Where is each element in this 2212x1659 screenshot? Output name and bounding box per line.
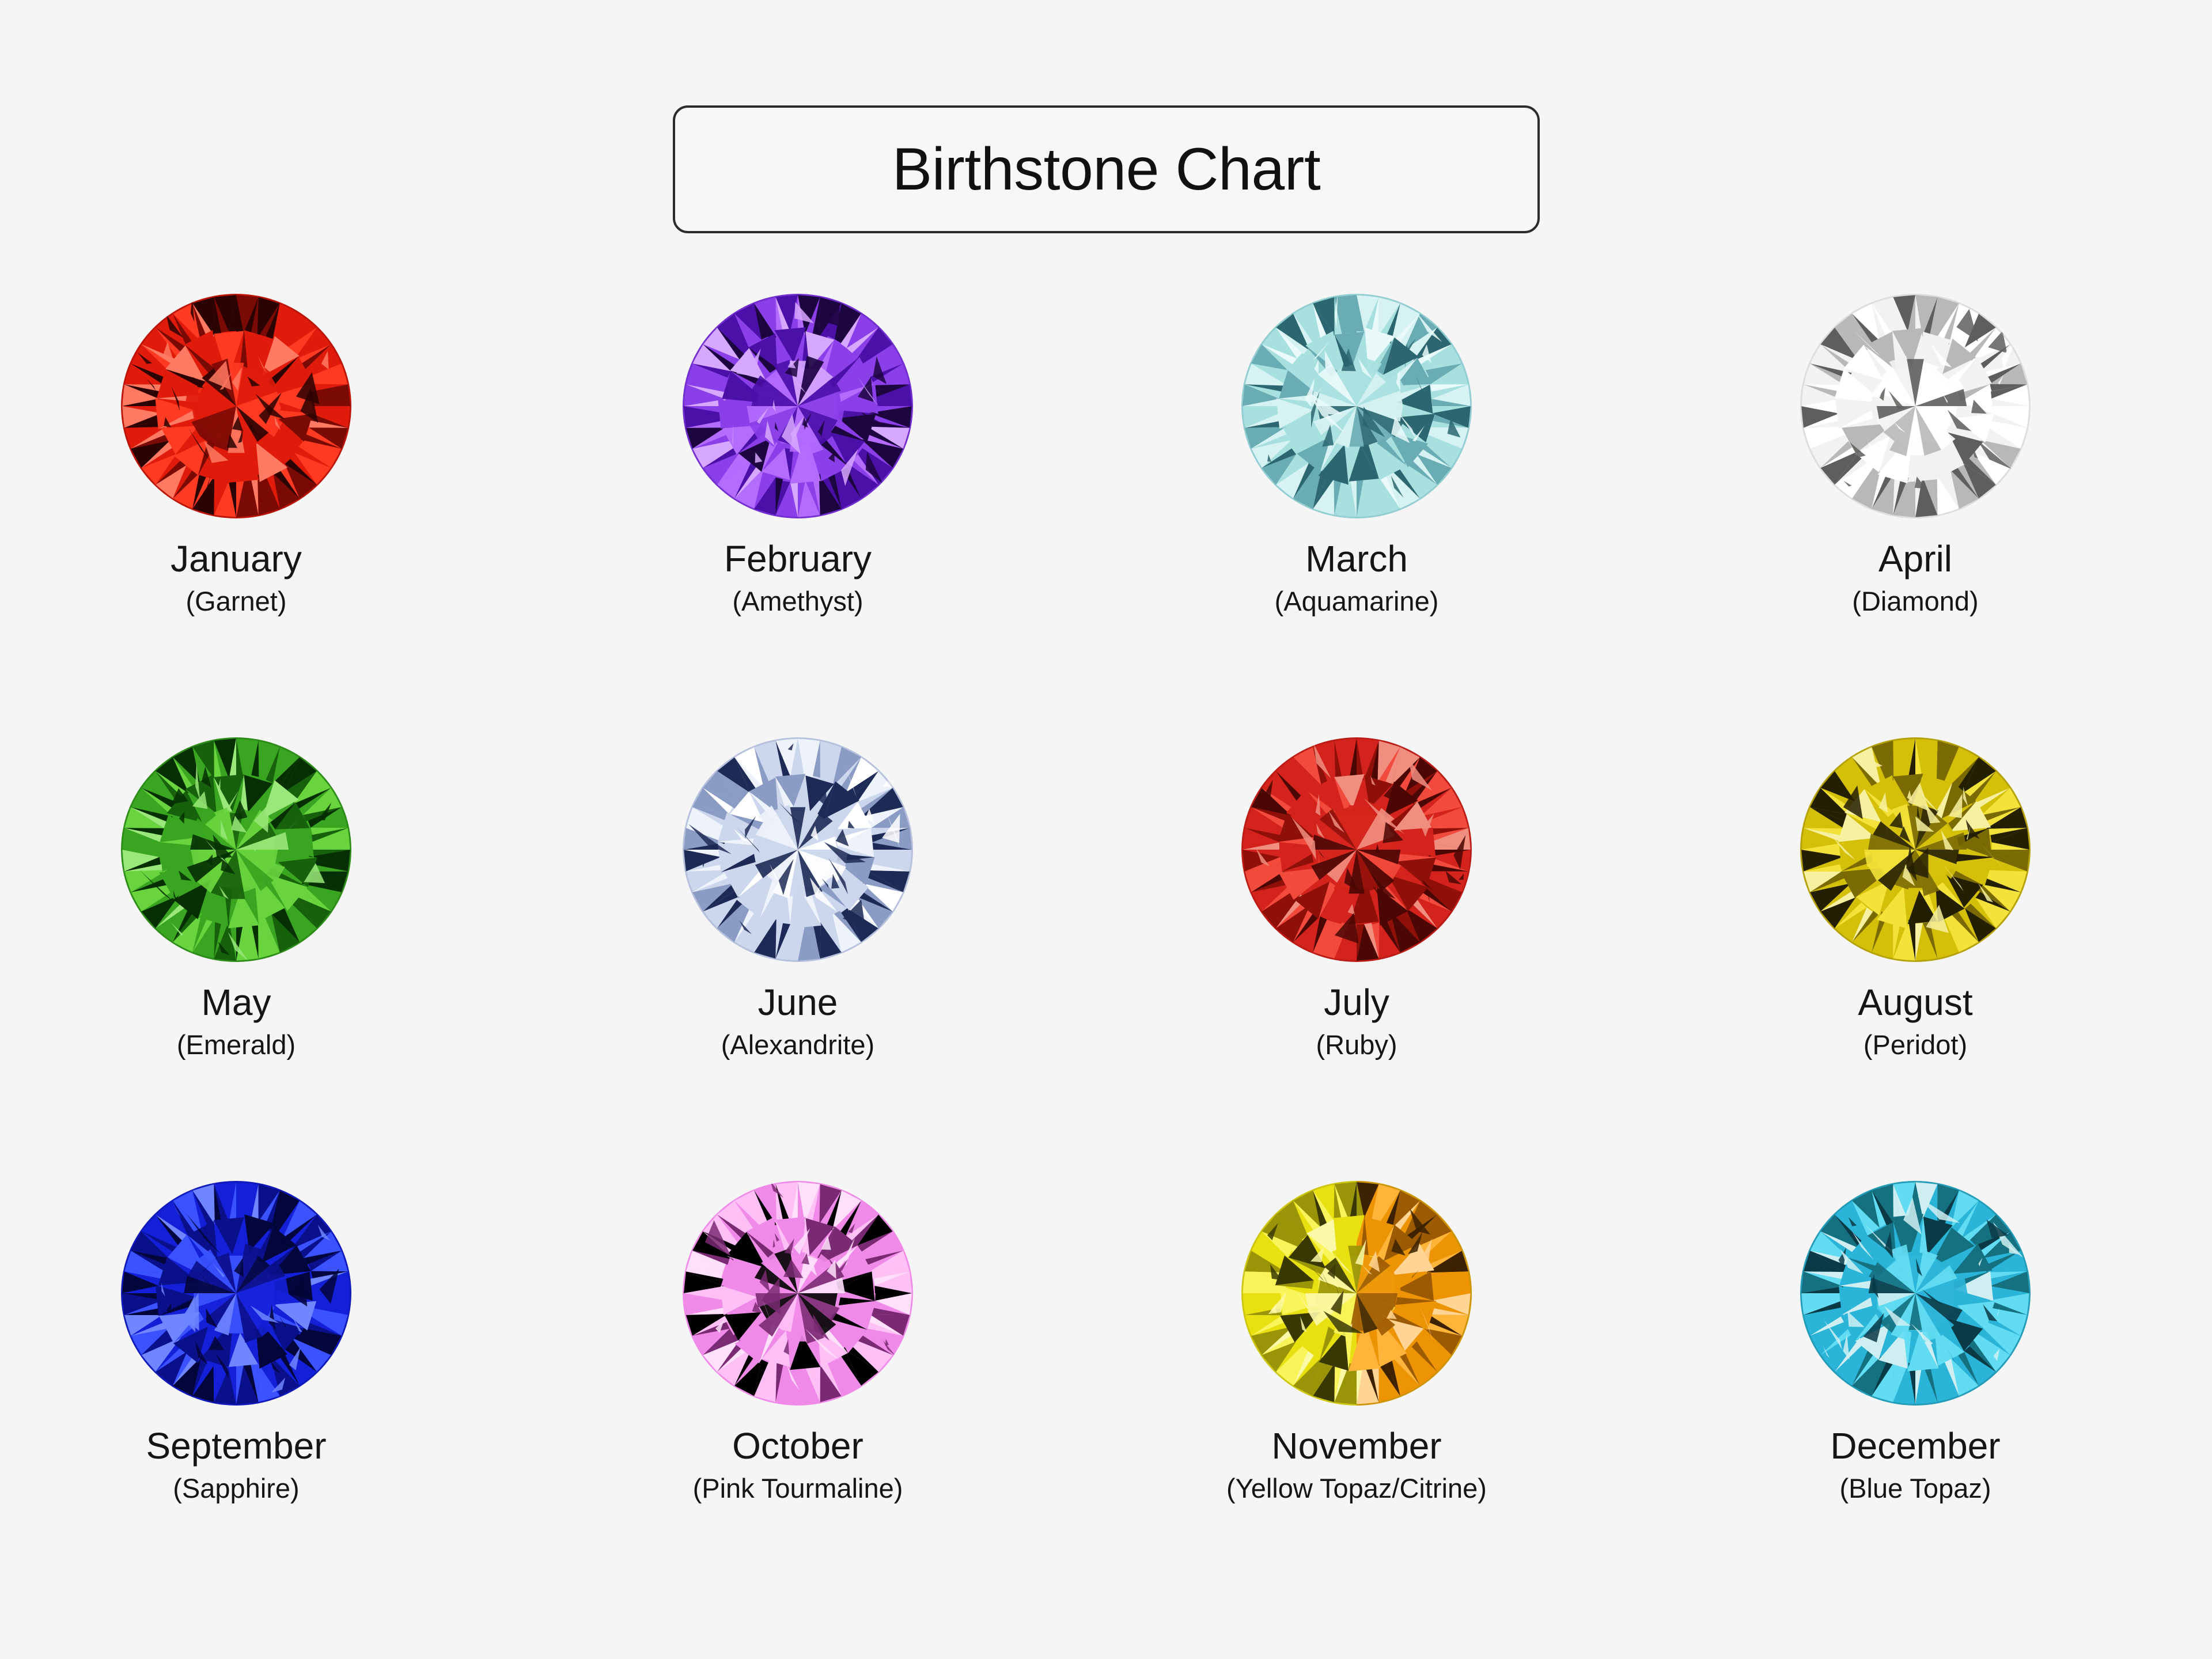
gemstone-icon-aquamarine xyxy=(1238,288,1475,524)
month-label: May xyxy=(202,984,271,1021)
gemstone-icon-pink-tourmaline xyxy=(680,1175,916,1411)
stone-label: (Sapphire) xyxy=(173,1475,299,1502)
month-cell-april[interactable]: April(Diamond) xyxy=(1639,288,2192,732)
stone-label: (Garnet) xyxy=(186,588,287,615)
month-label: March xyxy=(1305,540,1408,577)
month-cell-july[interactable]: July(Ruby) xyxy=(1080,732,1633,1175)
gemstone-icon-yellow-topaz-citrine xyxy=(1238,1175,1475,1411)
gemstone-icon-sapphire xyxy=(118,1175,354,1411)
month-cell-march[interactable]: March(Aquamarine) xyxy=(1080,288,1633,732)
gemstone-icon-diamond xyxy=(1797,288,2033,524)
month-cell-october[interactable]: October(Pink Tourmaline) xyxy=(521,1175,1074,1619)
month-label: July xyxy=(1324,984,1389,1021)
gemstone-icon-blue-topaz xyxy=(1797,1175,2033,1411)
month-label: December xyxy=(1830,1427,2000,1464)
gemstone-icon-emerald xyxy=(118,732,354,968)
month-cell-may[interactable]: May(Emerald) xyxy=(0,732,513,1175)
month-cell-february[interactable]: February(Amethyst) xyxy=(521,288,1074,732)
stone-label: (Diamond) xyxy=(1852,588,1978,615)
gemstone-icon-alexandrite xyxy=(680,732,916,968)
month-label: November xyxy=(1271,1427,1441,1464)
month-cell-december[interactable]: December(Blue Topaz) xyxy=(1639,1175,2192,1619)
stone-label: (Amethyst) xyxy=(732,588,863,615)
stone-label: (Emerald) xyxy=(177,1031,296,1058)
gemstone-icon-ruby xyxy=(1238,732,1475,968)
stone-label: (Aquamarine) xyxy=(1275,588,1439,615)
month-cell-september[interactable]: September(Sapphire) xyxy=(0,1175,513,1619)
page-title: Birthstone Chart xyxy=(892,139,1320,199)
month-label: June xyxy=(758,984,838,1021)
stone-label: (Pink Tourmaline) xyxy=(693,1475,903,1502)
stone-label: (Alexandrite) xyxy=(721,1031,874,1058)
month-label: August xyxy=(1858,984,1972,1021)
month-cell-november[interactable]: November(Yellow Topaz/Citrine) xyxy=(1080,1175,1633,1619)
birthstone-grid: January(Garnet)February(Amethyst)March(A… xyxy=(0,288,2212,1619)
stone-label: (Ruby) xyxy=(1316,1031,1397,1058)
month-cell-august[interactable]: August(Peridot) xyxy=(1639,732,2192,1175)
gemstone-icon-peridot xyxy=(1797,732,2033,968)
gemstone-icon-amethyst xyxy=(680,288,916,524)
month-label: January xyxy=(171,540,302,577)
month-cell-june[interactable]: June(Alexandrite) xyxy=(521,732,1074,1175)
month-label: April xyxy=(1878,540,1952,577)
page-title-box: Birthstone Chart xyxy=(673,105,1540,233)
month-label: September xyxy=(146,1427,326,1464)
month-cell-january[interactable]: January(Garnet) xyxy=(0,288,513,732)
month-label: February xyxy=(724,540,872,577)
stone-label: (Yellow Topaz/Citrine) xyxy=(1226,1475,1487,1502)
month-label: October xyxy=(732,1427,863,1464)
stone-label: (Blue Topaz) xyxy=(1840,1475,1991,1502)
gemstone-icon-garnet xyxy=(118,288,354,524)
stone-label: (Peridot) xyxy=(1863,1031,1967,1058)
